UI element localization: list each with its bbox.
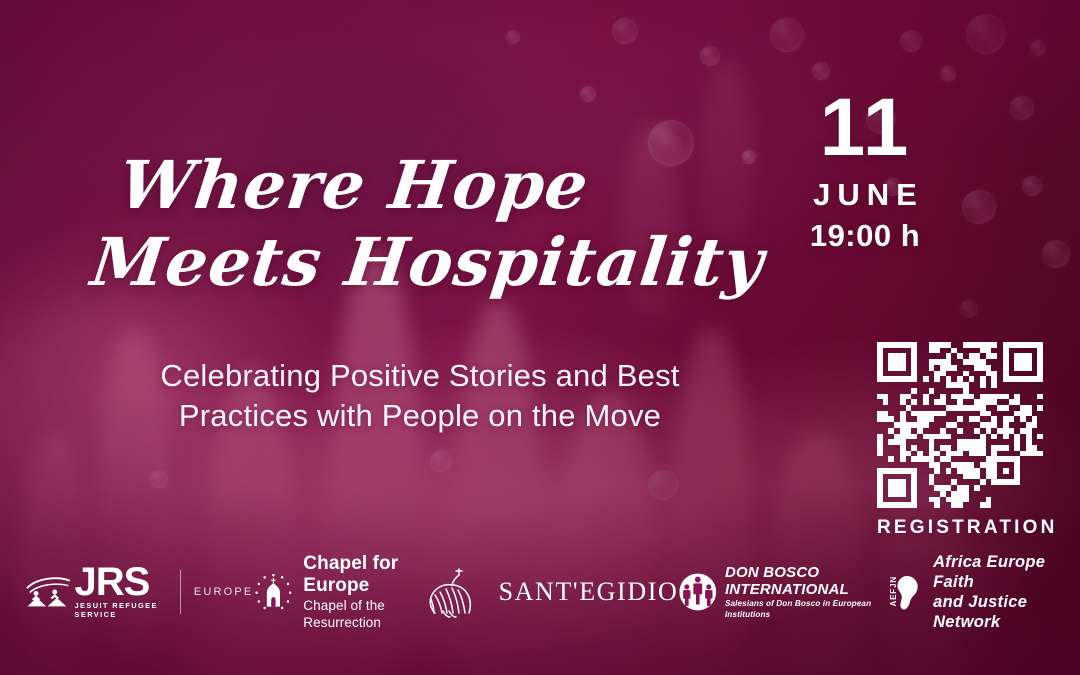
santegidio-dove-icon — [425, 565, 487, 619]
logo-divider — [180, 570, 181, 614]
event-poster: Where Hope Meets Hospitality Celebrating… — [0, 0, 1080, 675]
aefjn-line-1: Africa Europe Faith — [933, 552, 1054, 592]
qr-code[interactable] — [877, 342, 1043, 508]
event-month: JUNE — [780, 178, 950, 212]
don-bosco-figures-icon — [678, 565, 718, 619]
event-day: 11 — [780, 88, 950, 168]
logo-don-bosco-international: DON BOSCO INTERNATIONAL Salesians of Don… — [678, 564, 888, 620]
jrs-people-bridge-icon — [26, 570, 71, 614]
chapel-subtitle: Chapel of the Resurrection — [303, 597, 424, 631]
jrs-tagline: JESUIT REFUGEE SERVICE — [75, 601, 168, 619]
registration-block[interactable]: REGISTRATION — [877, 342, 1043, 539]
chapel-icon — [253, 564, 294, 620]
logo-jrs: JRS JESUIT REFUGEE SERVICE EUROPE — [26, 565, 253, 619]
jrs-wordmark: JRS — [75, 565, 168, 599]
santegidio-wordmark: SANT'EGIDIO — [499, 577, 679, 607]
logo-santegidio: SANT'EGIDIO — [425, 565, 679, 619]
logo-aefjn: AEFJN Africa Europe Faith and Justice Ne… — [888, 552, 1054, 632]
aefjn-line-2: and Justice Network — [933, 592, 1054, 632]
registration-label: REGISTRATION — [877, 517, 1043, 539]
aefjn-monogram: AEFJN — [889, 576, 898, 607]
event-time: 19:00 h — [780, 218, 950, 254]
aefjn-africa-icon: AEFJN — [888, 564, 923, 620]
event-date-block: 11 JUNE 19:00 h — [780, 88, 950, 254]
jrs-region: EUROPE — [194, 586, 254, 598]
partner-logo-bar: JRS JESUIT REFUGEE SERVICE EUROPE — [0, 553, 1080, 631]
don-bosco-title: DON BOSCO INTERNATIONAL — [725, 564, 888, 598]
chapel-title: Chapel for Europe — [303, 553, 424, 597]
subtitle-line-2: Practices with People on the Move — [70, 396, 770, 436]
subtitle-line-1: Celebrating Positive Stories and Best — [70, 356, 770, 396]
poster-subtitle: Celebrating Positive Stories and Best Pr… — [70, 356, 770, 436]
logo-chapel-for-europe: Chapel for Europe Chapel of the Resurrec… — [253, 553, 424, 631]
don-bosco-subtitle: Salesians of Don Bosco in European Insti… — [725, 598, 888, 620]
